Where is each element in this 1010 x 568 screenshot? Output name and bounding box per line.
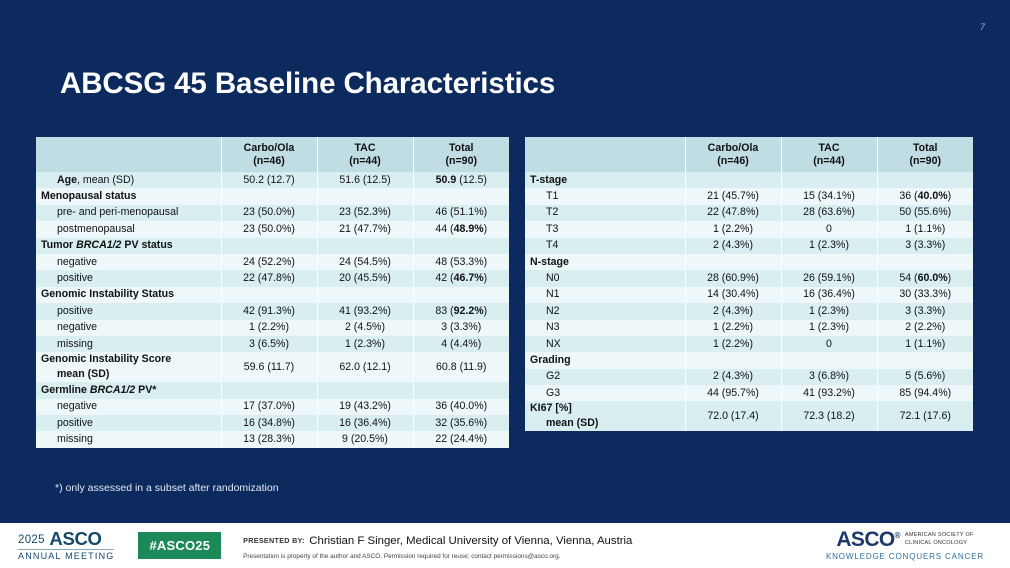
table-row: Genomic Instability Scoremean (SD)59.6 (… bbox=[36, 352, 509, 382]
cell-value-col3: 4 (4.4%) bbox=[413, 336, 509, 352]
slide-canvas: 7 ABCSG 45 Baseline Characteristics Carb… bbox=[0, 0, 1010, 568]
row-label: N2 bbox=[525, 303, 685, 319]
cell-value-col3: 36 (40.0%) bbox=[877, 188, 973, 204]
table-row: Grading bbox=[525, 352, 973, 368]
cell-value-col3: 32 (35.6%) bbox=[413, 415, 509, 431]
table-row: missing3 (6.5%)1 (2.3%)4 (4.4%) bbox=[36, 336, 509, 352]
cell-value-col3: 42 (46.7%) bbox=[413, 270, 509, 286]
society-name: AMERICAN SOCIETY OF CLINICAL ONCOLOGY bbox=[905, 532, 974, 547]
cell-value-col1: 3 (6.5%) bbox=[221, 336, 317, 352]
cell-value-col1 bbox=[221, 287, 317, 303]
cell-value-col1: 72.0 (17.4) bbox=[685, 401, 781, 431]
cell-value-col1: 1 (2.2%) bbox=[685, 336, 781, 352]
asco-annual-meeting-logo: 2025 ASCO ANNUAL MEETING bbox=[18, 530, 114, 562]
header-label-line2: (n=44) bbox=[813, 155, 845, 167]
cell-value-col3 bbox=[413, 238, 509, 254]
cell-value-col3 bbox=[413, 287, 509, 303]
table-row: NX1 (2.2%)01 (1.1%) bbox=[525, 336, 973, 352]
cell-value-col3 bbox=[413, 382, 509, 398]
asco-society-logo: ASCO® AMERICAN SOCIETY OF CLINICAL ONCOL… bbox=[826, 529, 984, 561]
cell-value-col1: 23 (50.0%) bbox=[221, 205, 317, 221]
row-label: T4 bbox=[525, 238, 685, 254]
cell-value-col2 bbox=[317, 287, 413, 303]
header-label-line2: (n=44) bbox=[349, 155, 381, 167]
presented-by-label: PRESENTED BY: bbox=[243, 536, 305, 545]
table-row: G344 (95.7%)41 (93.2%)85 (94.4%) bbox=[525, 385, 973, 401]
row-label: N0 bbox=[525, 270, 685, 286]
cell-value-col1: 50.2 (12.7) bbox=[221, 172, 317, 188]
cell-value-col3: 5 (5.6%) bbox=[877, 369, 973, 385]
cell-value-col2: 21 (47.7%) bbox=[317, 221, 413, 237]
cell-value-col1 bbox=[685, 352, 781, 368]
cell-value-col1: 2 (4.3%) bbox=[685, 303, 781, 319]
cell-value-col3: 3 (3.3%) bbox=[413, 320, 509, 336]
header-label-line1: Carbo/Ola bbox=[244, 142, 295, 154]
cell-value-col3: 85 (94.4%) bbox=[877, 385, 973, 401]
cell-value-col2: 51.6 (12.5) bbox=[317, 172, 413, 188]
table-row: negative1 (2.2%)2 (4.5%)3 (3.3%) bbox=[36, 320, 509, 336]
cell-value-col2 bbox=[317, 382, 413, 398]
cell-value-col1 bbox=[221, 382, 317, 398]
cell-value-col3: 3 (3.3%) bbox=[877, 303, 973, 319]
row-label: Menopausal status bbox=[36, 188, 221, 204]
society-name-line2: CLINICAL ONCOLOGY bbox=[905, 540, 974, 548]
cell-value-col2 bbox=[317, 238, 413, 254]
cell-value-col2: 9 (20.5%) bbox=[317, 431, 413, 447]
table-row: positive42 (91.3%)41 (93.2%)83 (92.2%) bbox=[36, 303, 509, 319]
cell-value-col1: 24 (52.2%) bbox=[221, 254, 317, 270]
header-label-line2: (n=90) bbox=[910, 155, 942, 167]
table-row: missing13 (28.3%)9 (20.5%)22 (24.4%) bbox=[36, 431, 509, 447]
header-row: Carbo/Ola (n=46) TAC (n=44) Total (n=90) bbox=[525, 137, 973, 172]
row-label: Age, mean (SD) bbox=[36, 172, 221, 188]
header-col-tac: TAC (n=44) bbox=[317, 137, 413, 172]
cell-value-col3: 50.9 (12.5) bbox=[413, 172, 509, 188]
cell-value-col2: 0 bbox=[781, 221, 877, 237]
slide-footer: 2025 ASCO ANNUAL MEETING #ASCO25 PRESENT… bbox=[0, 523, 1010, 568]
cell-value-col2: 15 (34.1%) bbox=[781, 188, 877, 204]
row-label: positive bbox=[36, 270, 221, 286]
row-label: positive bbox=[36, 303, 221, 319]
row-label: T1 bbox=[525, 188, 685, 204]
header-col-total: Total (n=90) bbox=[413, 137, 509, 172]
table-row: T222 (47.8%)28 (63.6%)50 (55.6%) bbox=[525, 205, 973, 221]
cell-value-col2: 41 (93.2%) bbox=[781, 385, 877, 401]
society-name-line1: AMERICAN SOCIETY OF bbox=[905, 532, 974, 540]
cell-value-col3: 22 (24.4%) bbox=[413, 431, 509, 447]
row-label: negative bbox=[36, 399, 221, 415]
cell-value-col3: 30 (33.3%) bbox=[877, 287, 973, 303]
row-label: N1 bbox=[525, 287, 685, 303]
cell-value-col1: 42 (91.3%) bbox=[221, 303, 317, 319]
hashtag-badge: #ASCO25 bbox=[138, 532, 221, 559]
asco-wordmark: ASCO® bbox=[836, 529, 900, 550]
row-label: Genomic Instability Scoremean (SD) bbox=[36, 352, 221, 382]
cell-value-col2: 19 (43.2%) bbox=[317, 399, 413, 415]
row-label: Tumor BRCA1/2 PV status bbox=[36, 238, 221, 254]
cell-value-col1 bbox=[685, 254, 781, 270]
cell-value-col3 bbox=[877, 254, 973, 270]
cell-value-col2: 16 (36.4%) bbox=[317, 415, 413, 431]
header-label-line1: Total bbox=[449, 142, 474, 154]
table-row: N22 (4.3%)1 (2.3%)3 (3.3%) bbox=[525, 303, 973, 319]
header-col-tac: TAC (n=44) bbox=[781, 137, 877, 172]
meeting-subtitle: ANNUAL MEETING bbox=[18, 549, 114, 561]
cell-value-col2: 1 (2.3%) bbox=[781, 320, 877, 336]
cell-value-col2: 72.3 (18.2) bbox=[781, 401, 877, 431]
cell-value-col2 bbox=[781, 352, 877, 368]
table-row: G22 (4.3%)3 (6.8%)5 (5.6%) bbox=[525, 369, 973, 385]
table-row: T31 (2.2%)01 (1.1%) bbox=[525, 221, 973, 237]
cell-value-col3: 2 (2.2%) bbox=[877, 320, 973, 336]
cell-value-col2: 3 (6.8%) bbox=[781, 369, 877, 385]
header-col-carbo-ola: Carbo/Ola (n=46) bbox=[685, 137, 781, 172]
row-label: Genomic Instability Status bbox=[36, 287, 221, 303]
table-row: negative17 (37.0%)19 (43.2%)36 (40.0%) bbox=[36, 399, 509, 415]
cell-value-col1: 1 (2.2%) bbox=[685, 221, 781, 237]
cell-value-col3: 44 (48.9%) bbox=[413, 221, 509, 237]
cell-value-col2 bbox=[781, 172, 877, 188]
table-row: Genomic Instability Status bbox=[36, 287, 509, 303]
row-label: T-stage bbox=[525, 172, 685, 188]
header-corner-cell bbox=[36, 137, 221, 172]
cell-value-col1: 22 (47.8%) bbox=[685, 205, 781, 221]
header-label-line2: (n=46) bbox=[253, 155, 285, 167]
presenter-block: PRESENTED BY: Christian F Singer, Medica… bbox=[243, 530, 632, 561]
header-label-line1: Total bbox=[913, 142, 938, 154]
cell-value-col1: 21 (45.7%) bbox=[685, 188, 781, 204]
header-label-line2: (n=90) bbox=[446, 155, 478, 167]
table-row: Age, mean (SD)50.2 (12.7)51.6 (12.5)50.9… bbox=[36, 172, 509, 188]
cell-value-col1 bbox=[221, 188, 317, 204]
row-label: missing bbox=[36, 431, 221, 447]
cell-value-col1: 17 (37.0%) bbox=[221, 399, 317, 415]
header-col-carbo-ola: Carbo/Ola (n=46) bbox=[221, 137, 317, 172]
cell-value-col2: 1 (2.3%) bbox=[317, 336, 413, 352]
table-row: positive22 (47.8%)20 (45.5%)42 (46.7%) bbox=[36, 270, 509, 286]
cell-value-col2: 2 (4.5%) bbox=[317, 320, 413, 336]
row-label: KI67 [%]mean (SD) bbox=[525, 401, 685, 431]
cell-value-col3 bbox=[413, 188, 509, 204]
table-row: N31 (2.2%)1 (2.3%)2 (2.2%) bbox=[525, 320, 973, 336]
cell-value-col2 bbox=[317, 188, 413, 204]
table-row: N-stage bbox=[525, 254, 973, 270]
cell-value-col1: 14 (30.4%) bbox=[685, 287, 781, 303]
cell-value-col2: 24 (54.5%) bbox=[317, 254, 413, 270]
footnote: *) only assessed in a subset after rando… bbox=[55, 482, 279, 494]
table-row: positive16 (34.8%)16 (36.4%)32 (35.6%) bbox=[36, 415, 509, 431]
cell-value-col3: 83 (92.2%) bbox=[413, 303, 509, 319]
cell-value-col1: 1 (2.2%) bbox=[221, 320, 317, 336]
cell-value-col2: 41 (93.2%) bbox=[317, 303, 413, 319]
header-label-line1: TAC bbox=[819, 142, 840, 154]
cell-value-col1: 28 (60.9%) bbox=[685, 270, 781, 286]
left-table: Carbo/Ola (n=46) TAC (n=44) Total (n=90)… bbox=[36, 137, 509, 448]
row-label: negative bbox=[36, 320, 221, 336]
row-label: positive bbox=[36, 415, 221, 431]
row-label: N-stage bbox=[525, 254, 685, 270]
table-row: postmenopausal23 (50.0%)21 (47.7%)44 (48… bbox=[36, 221, 509, 237]
cell-value-col2: 20 (45.5%) bbox=[317, 270, 413, 286]
row-label: T2 bbox=[525, 205, 685, 221]
table-row: N114 (30.4%)16 (36.4%)30 (33.3%) bbox=[525, 287, 973, 303]
header-corner-cell bbox=[525, 137, 685, 172]
cell-value-col1: 59.6 (11.7) bbox=[221, 352, 317, 382]
row-label: T3 bbox=[525, 221, 685, 237]
row-label: Grading bbox=[525, 352, 685, 368]
cell-value-col3: 1 (1.1%) bbox=[877, 336, 973, 352]
table-row: T-stage bbox=[525, 172, 973, 188]
cell-value-col2: 23 (52.3%) bbox=[317, 205, 413, 221]
table-row: pre- and peri-menopausal23 (50.0%)23 (52… bbox=[36, 205, 509, 221]
cell-value-col2: 62.0 (12.1) bbox=[317, 352, 413, 382]
row-label: G3 bbox=[525, 385, 685, 401]
cell-value-col1 bbox=[685, 172, 781, 188]
header-col-total: Total (n=90) bbox=[877, 137, 973, 172]
row-label: NX bbox=[525, 336, 685, 352]
row-label: G2 bbox=[525, 369, 685, 385]
cell-value-col3: 72.1 (17.6) bbox=[877, 401, 973, 431]
table-row: negative24 (52.2%)24 (54.5%)48 (53.3%) bbox=[36, 254, 509, 270]
cell-value-col1: 22 (47.8%) bbox=[221, 270, 317, 286]
table-row: Tumor BRCA1/2 PV status bbox=[36, 238, 509, 254]
header-row: Carbo/Ola (n=46) TAC (n=44) Total (n=90) bbox=[36, 137, 509, 172]
table-header-left: Carbo/Ola (n=46) TAC (n=44) Total (n=90) bbox=[36, 137, 509, 172]
table-body-left: Age, mean (SD)50.2 (12.7)51.6 (12.5)50.9… bbox=[36, 172, 509, 448]
cell-value-col1: 16 (34.8%) bbox=[221, 415, 317, 431]
meeting-year: 2025 bbox=[18, 534, 45, 546]
cell-value-col3: 3 (3.3%) bbox=[877, 238, 973, 254]
cell-value-col3: 60.8 (11.9) bbox=[413, 352, 509, 382]
header-label-line1: TAC bbox=[355, 142, 376, 154]
page-title: ABCSG 45 Baseline Characteristics bbox=[60, 67, 555, 101]
cell-value-col2: 1 (2.3%) bbox=[781, 238, 877, 254]
table-row: T121 (45.7%)15 (34.1%)36 (40.0%) bbox=[525, 188, 973, 204]
cell-value-col3: 36 (40.0%) bbox=[413, 399, 509, 415]
cell-value-col1: 1 (2.2%) bbox=[685, 320, 781, 336]
cell-value-col3 bbox=[877, 172, 973, 188]
baseline-characteristics-table-left: Carbo/Ola (n=46) TAC (n=44) Total (n=90)… bbox=[36, 137, 509, 448]
cell-value-col3: 48 (53.3%) bbox=[413, 254, 509, 270]
cell-value-col3 bbox=[877, 352, 973, 368]
cell-value-col1: 44 (95.7%) bbox=[685, 385, 781, 401]
cell-value-col2: 1 (2.3%) bbox=[781, 303, 877, 319]
row-label: postmenopausal bbox=[36, 221, 221, 237]
slide-number: 7 bbox=[980, 22, 985, 32]
table-body-right: T-stageT121 (45.7%)15 (34.1%)36 (40.0%)T… bbox=[525, 172, 973, 431]
header-label-line1: Carbo/Ola bbox=[708, 142, 759, 154]
cell-value-col3: 50 (55.6%) bbox=[877, 205, 973, 221]
cell-value-col1: 23 (50.0%) bbox=[221, 221, 317, 237]
table-row: T42 (4.3%)1 (2.3%)3 (3.3%) bbox=[525, 238, 973, 254]
permission-text: Presentation is property of the author a… bbox=[243, 553, 632, 561]
cell-value-col2: 0 bbox=[781, 336, 877, 352]
asco-tagline: KNOWLEDGE CONQUERS CANCER bbox=[826, 553, 984, 561]
cell-value-col1: 2 (4.3%) bbox=[685, 369, 781, 385]
table-row: Germline BRCA1/2 PV* bbox=[36, 382, 509, 398]
presenter-name: Christian F Singer, Medical University o… bbox=[309, 535, 632, 547]
table-row: N028 (60.9%)26 (59.1%)54 (60.0%) bbox=[525, 270, 973, 286]
row-label: pre- and peri-menopausal bbox=[36, 205, 221, 221]
cell-value-col3: 54 (60.0%) bbox=[877, 270, 973, 286]
cell-value-col3: 46 (51.1%) bbox=[413, 205, 509, 221]
baseline-characteristics-table-right: Carbo/Ola (n=46) TAC (n=44) Total (n=90)… bbox=[525, 137, 973, 431]
row-label: negative bbox=[36, 254, 221, 270]
cell-value-col2: 16 (36.4%) bbox=[781, 287, 877, 303]
cell-value-col2: 28 (63.6%) bbox=[781, 205, 877, 221]
table-header-right: Carbo/Ola (n=46) TAC (n=44) Total (n=90) bbox=[525, 137, 973, 172]
table-row: KI67 [%]mean (SD)72.0 (17.4)72.3 (18.2)7… bbox=[525, 401, 973, 431]
cell-value-col3: 1 (1.1%) bbox=[877, 221, 973, 237]
cell-value-col2 bbox=[781, 254, 877, 270]
meeting-brand: ASCO bbox=[49, 528, 101, 549]
row-label: Germline BRCA1/2 PV* bbox=[36, 382, 221, 398]
table-row: Menopausal status bbox=[36, 188, 509, 204]
cell-value-col1: 2 (4.3%) bbox=[685, 238, 781, 254]
row-label: N3 bbox=[525, 320, 685, 336]
header-label-line2: (n=46) bbox=[717, 155, 749, 167]
cell-value-col1: 13 (28.3%) bbox=[221, 431, 317, 447]
row-label: missing bbox=[36, 336, 221, 352]
cell-value-col2: 26 (59.1%) bbox=[781, 270, 877, 286]
right-table: Carbo/Ola (n=46) TAC (n=44) Total (n=90)… bbox=[525, 137, 973, 431]
cell-value-col1 bbox=[221, 238, 317, 254]
